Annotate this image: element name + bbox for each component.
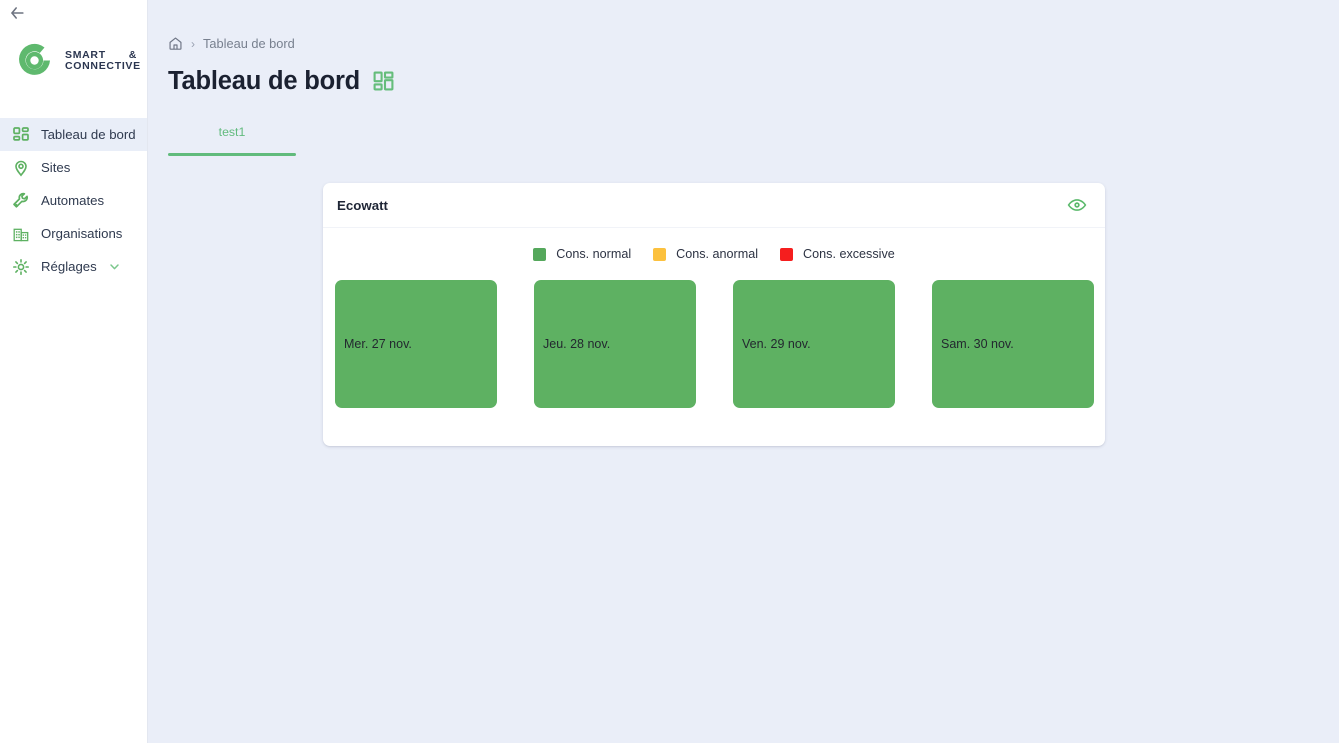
day-cell[interactable]: Mer. 27 nov.: [335, 280, 497, 408]
legend-swatch-cons-anormal: [653, 248, 666, 261]
legend-item: Cons. anormal: [653, 247, 758, 261]
sidebar-nav: Tableau de bord Sites: [0, 118, 147, 283]
page-title-row: Tableau de bord: [148, 51, 1339, 96]
sidebar-item-label: Tableau de bord: [41, 127, 136, 142]
smart-connective-logo-icon: [13, 39, 57, 83]
day-label: Jeu. 28 nov.: [534, 337, 610, 351]
tab-active-indicator: [168, 153, 296, 156]
main-content: › Tableau de bord Tableau de bord test1: [148, 0, 1339, 743]
day-label: Ven. 29 nov.: [733, 337, 811, 351]
sidebar-item-label: Sites: [41, 160, 70, 175]
wrench-icon: [12, 192, 30, 210]
legend-label: Cons. normal: [556, 247, 631, 261]
sidebar-top-bar: [0, 0, 147, 26]
widget-title: Ecowatt: [337, 198, 388, 213]
legend-item: Cons. excessive: [780, 247, 895, 261]
brand-line2: CONNECTIVE: [65, 61, 141, 72]
sidebar: SMART & CONNECTIVE Tableau de bord: [0, 0, 148, 743]
tab-test1[interactable]: test1: [168, 120, 296, 144]
ecowatt-widget-card: Ecowatt Cons. normal Cons. anormal: [323, 183, 1105, 446]
grid-layout-icon[interactable]: [373, 71, 394, 92]
day-cell[interactable]: Sam. 30 nov.: [932, 280, 1094, 408]
chevron-down-icon[interactable]: [108, 260, 121, 273]
page-title: Tableau de bord: [168, 67, 360, 96]
sidebar-item-tableau-de-bord[interactable]: Tableau de bord: [0, 118, 147, 151]
day-label: Mer. 27 nov.: [335, 337, 412, 351]
brand-wordmark: SMART & CONNECTIVE: [65, 50, 141, 73]
day-label: Sam. 30 nov.: [932, 337, 1014, 351]
brand-logo: SMART & CONNECTIVE: [0, 26, 147, 96]
tab-label: test1: [219, 125, 246, 139]
home-icon[interactable]: [168, 36, 183, 51]
grid-icon: [12, 126, 30, 144]
sidebar-item-reglages[interactable]: Réglages: [0, 250, 147, 283]
sidebar-item-label: Organisations: [41, 226, 122, 241]
legend-label: Cons. excessive: [803, 247, 895, 261]
legend-label: Cons. anormal: [676, 247, 758, 261]
sidebar-item-organisations[interactable]: Organisations: [0, 217, 147, 250]
breadcrumb: › Tableau de bord: [148, 0, 1339, 51]
breadcrumb-separator: ›: [191, 37, 195, 51]
eye-icon[interactable]: [1067, 195, 1087, 215]
app-root: SMART & CONNECTIVE Tableau de bord: [0, 0, 1339, 743]
sidebar-item-sites[interactable]: Sites: [0, 151, 147, 184]
back-arrow-icon[interactable]: [7, 3, 27, 23]
gear-icon: [12, 258, 30, 276]
location-pin-icon: [12, 159, 30, 177]
building-icon: [12, 225, 30, 243]
legend-item: Cons. normal: [533, 247, 631, 261]
sidebar-item-label: Réglages: [41, 259, 97, 274]
legend-swatch-cons-excessive: [780, 248, 793, 261]
sidebar-item-automates[interactable]: Automates: [0, 184, 147, 217]
widget-header: Ecowatt: [323, 183, 1105, 228]
day-cell[interactable]: Ven. 29 nov.: [733, 280, 895, 408]
ecowatt-day-grid: Mer. 27 nov. Jeu. 28 nov. Ven. 29 nov. S…: [323, 280, 1105, 408]
breadcrumb-current: Tableau de bord: [203, 36, 295, 51]
legend-swatch-cons-normal: [533, 248, 546, 261]
day-cell[interactable]: Jeu. 28 nov.: [534, 280, 696, 408]
sidebar-item-label: Automates: [41, 193, 104, 208]
widget-legend: Cons. normal Cons. anormal Cons. excessi…: [323, 228, 1105, 280]
tab-bar: test1: [168, 120, 296, 156]
